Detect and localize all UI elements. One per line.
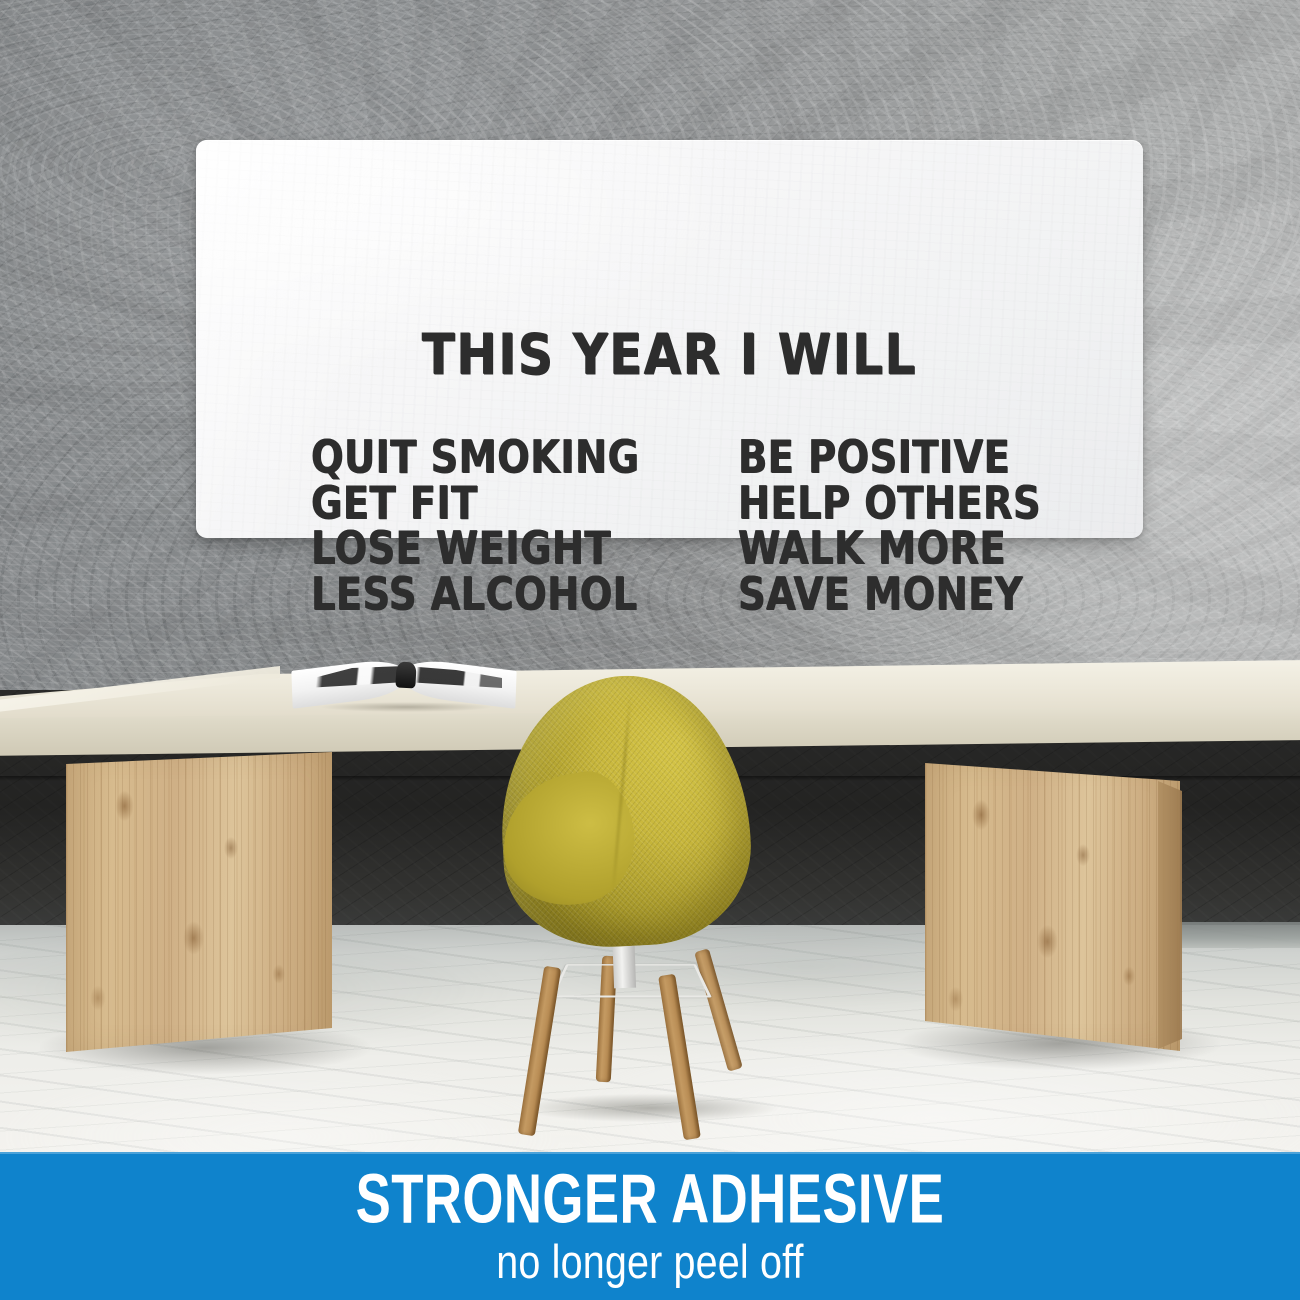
open-magazine (292, 662, 516, 704)
banner-headline: STRONGER ADHESIVE (356, 1165, 945, 1231)
desk-leg-left (66, 752, 332, 1052)
desk-leg-right (925, 763, 1180, 1051)
chair-leg-front-right (658, 974, 701, 1141)
yellow-chair (495, 676, 795, 1136)
product-scene: THIS YEAR I WILL QUIT SMOKING GET FIT LO… (0, 0, 1300, 1300)
chair-leg-front-left (518, 966, 561, 1137)
wood-knots (66, 752, 332, 1052)
desk-leg-right-side (1158, 781, 1182, 1049)
wood-knots (925, 763, 1180, 1051)
chair-seat-shell (494, 670, 756, 953)
promo-banner: STRONGER ADHESIVE no longer peel off (0, 1152, 1300, 1300)
magazine-spine (395, 661, 416, 688)
banner-top-divider (0, 1152, 1300, 1154)
banner-subhead: no longer peel off (496, 1237, 803, 1287)
chair-leg-back-right (694, 948, 743, 1071)
